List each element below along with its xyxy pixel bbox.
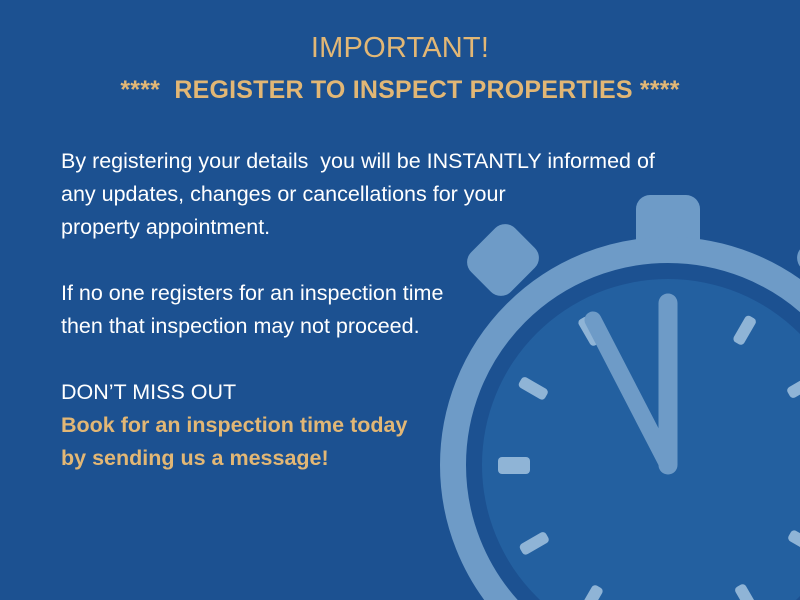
slide-canvas: IMPORTANT! **** REGISTER TO INSPECT PROP… (0, 0, 800, 600)
headline-important: IMPORTANT! (0, 30, 800, 66)
paragraph-1-line-1: By registering your details you will be … (61, 145, 721, 178)
paragraph-2-line-1: If no one registers for an inspection ti… (61, 277, 721, 310)
paragraph-1-line-2: any updates, changes or cancellations fo… (61, 178, 721, 211)
paragraph-2-line-2: then that inspection may not proceed. (61, 310, 721, 343)
headline-block: IMPORTANT! **** REGISTER TO INSPECT PROP… (0, 30, 800, 107)
call-to-action-dont-miss-out: DON’T MISS OUT (61, 376, 721, 409)
paragraph-1-line-3: property appointment. (61, 211, 721, 244)
paragraph-spacer-1 (61, 244, 721, 277)
headline-register: **** REGISTER TO INSPECT PROPERTIES **** (0, 73, 800, 107)
call-to-action-book-line-2: by sending us a message! (61, 442, 721, 475)
text-layer: IMPORTANT! **** REGISTER TO INSPECT PROP… (0, 0, 800, 600)
paragraph-spacer-2 (61, 343, 721, 376)
body-block: By registering your details you will be … (61, 145, 721, 475)
call-to-action-book-line-1: Book for an inspection time today (61, 409, 721, 442)
